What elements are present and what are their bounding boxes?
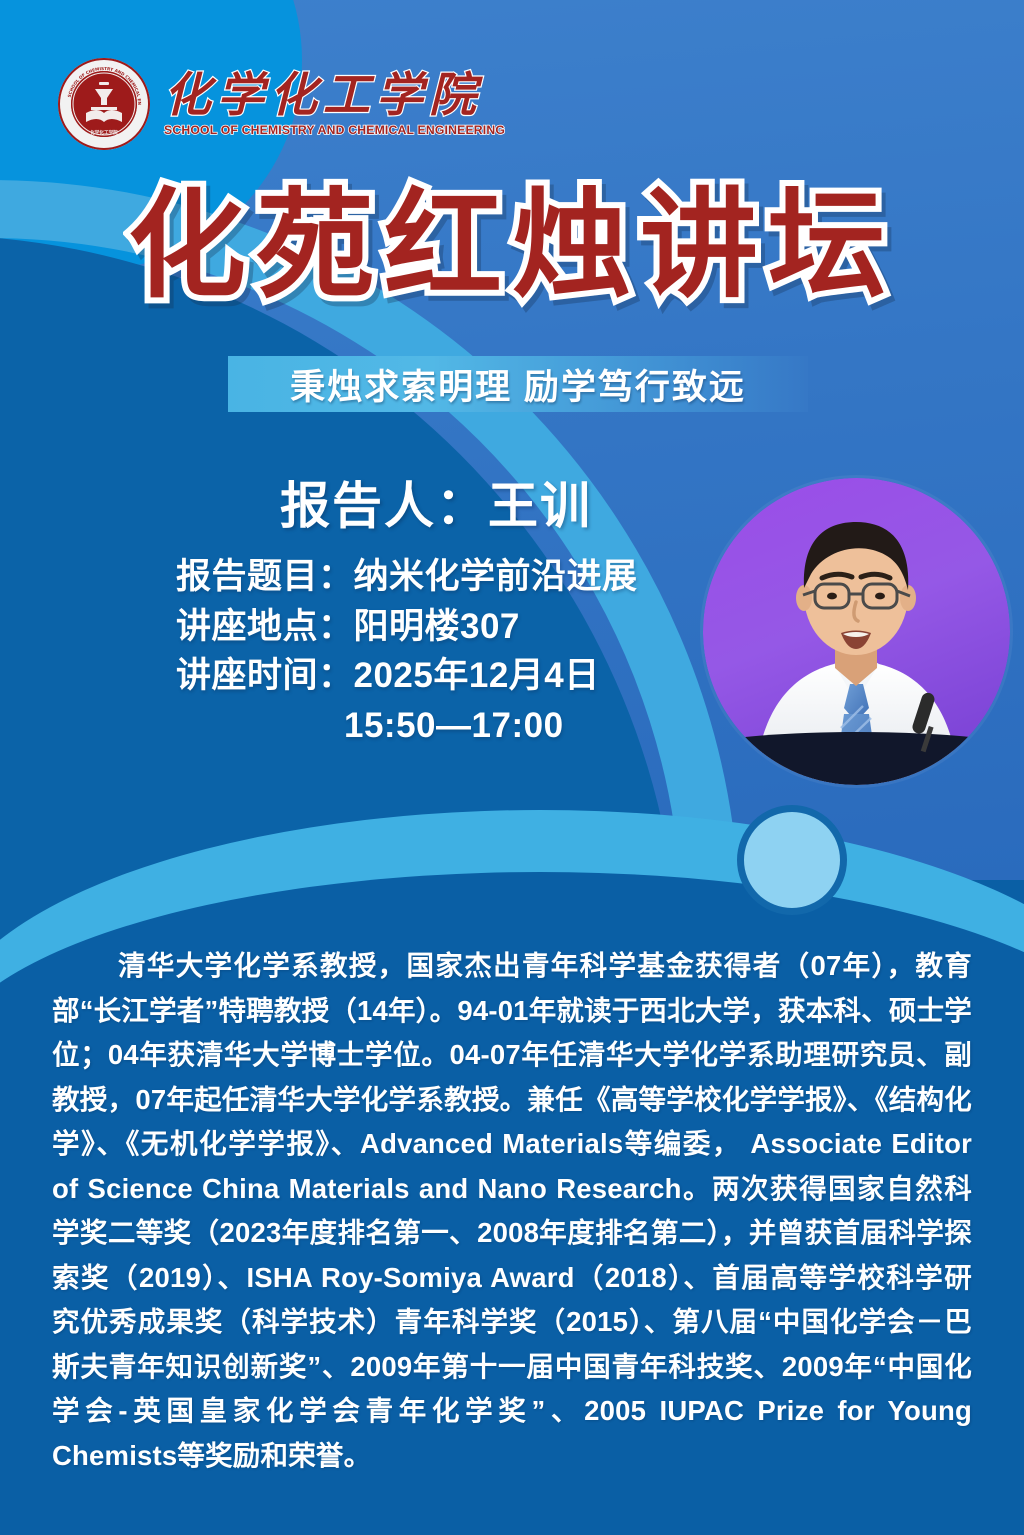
motto-text: 秉烛求索明理 励学笃行致远 — [290, 359, 746, 410]
school-branding: 化学化工学院 SCHOOL OF CHEMISTRY AND CHEMICAL … — [58, 58, 505, 150]
school-emblem-icon: 化学化工学院 SCHOOL OF CHEMISTRY AND CHEMICAL … — [58, 58, 150, 150]
speaker-info: 报告人：王训 报告题目：纳米化学前沿进展 讲座地点：阳明楼307 讲座时间：20… — [176, 466, 696, 751]
school-name-en: SCHOOL OF CHEMISTRY AND CHEMICAL ENGINEE… — [164, 123, 505, 137]
lecture-topic: 报告题目：纳米化学前沿进展 — [176, 552, 696, 602]
speaker-biography: 清华大学化学系教授，国家杰出青年科学基金获得者（07年），教育部“长江学者”特聘… — [52, 944, 972, 1479]
poster-main-title: 化苑红烛讲坛 — [0, 186, 1024, 304]
decorative-accent-circle — [737, 805, 847, 915]
motto-banner: 秉烛求索明理 励学笃行致远 — [228, 356, 808, 412]
school-name-block: 化学化工学院 SCHOOL OF CHEMISTRY AND CHEMICAL … — [164, 71, 505, 137]
lecture-location: 讲座地点：阳明楼307 — [176, 602, 696, 652]
lecture-date: 讲座时间：2025年12月4日 — [176, 651, 696, 701]
speaker-name: 报告人：王训 — [176, 466, 696, 538]
poster-root: 化学化工学院 SCHOOL OF CHEMISTRY AND CHEMICAL … — [0, 0, 1024, 1535]
lecture-time: 15:50—17:00 — [176, 701, 696, 751]
speaker-portrait — [703, 478, 1010, 785]
svg-text:化学化工学院: 化学化工学院 — [90, 129, 118, 136]
school-name-cn: 化学化工学院 — [164, 71, 505, 122]
